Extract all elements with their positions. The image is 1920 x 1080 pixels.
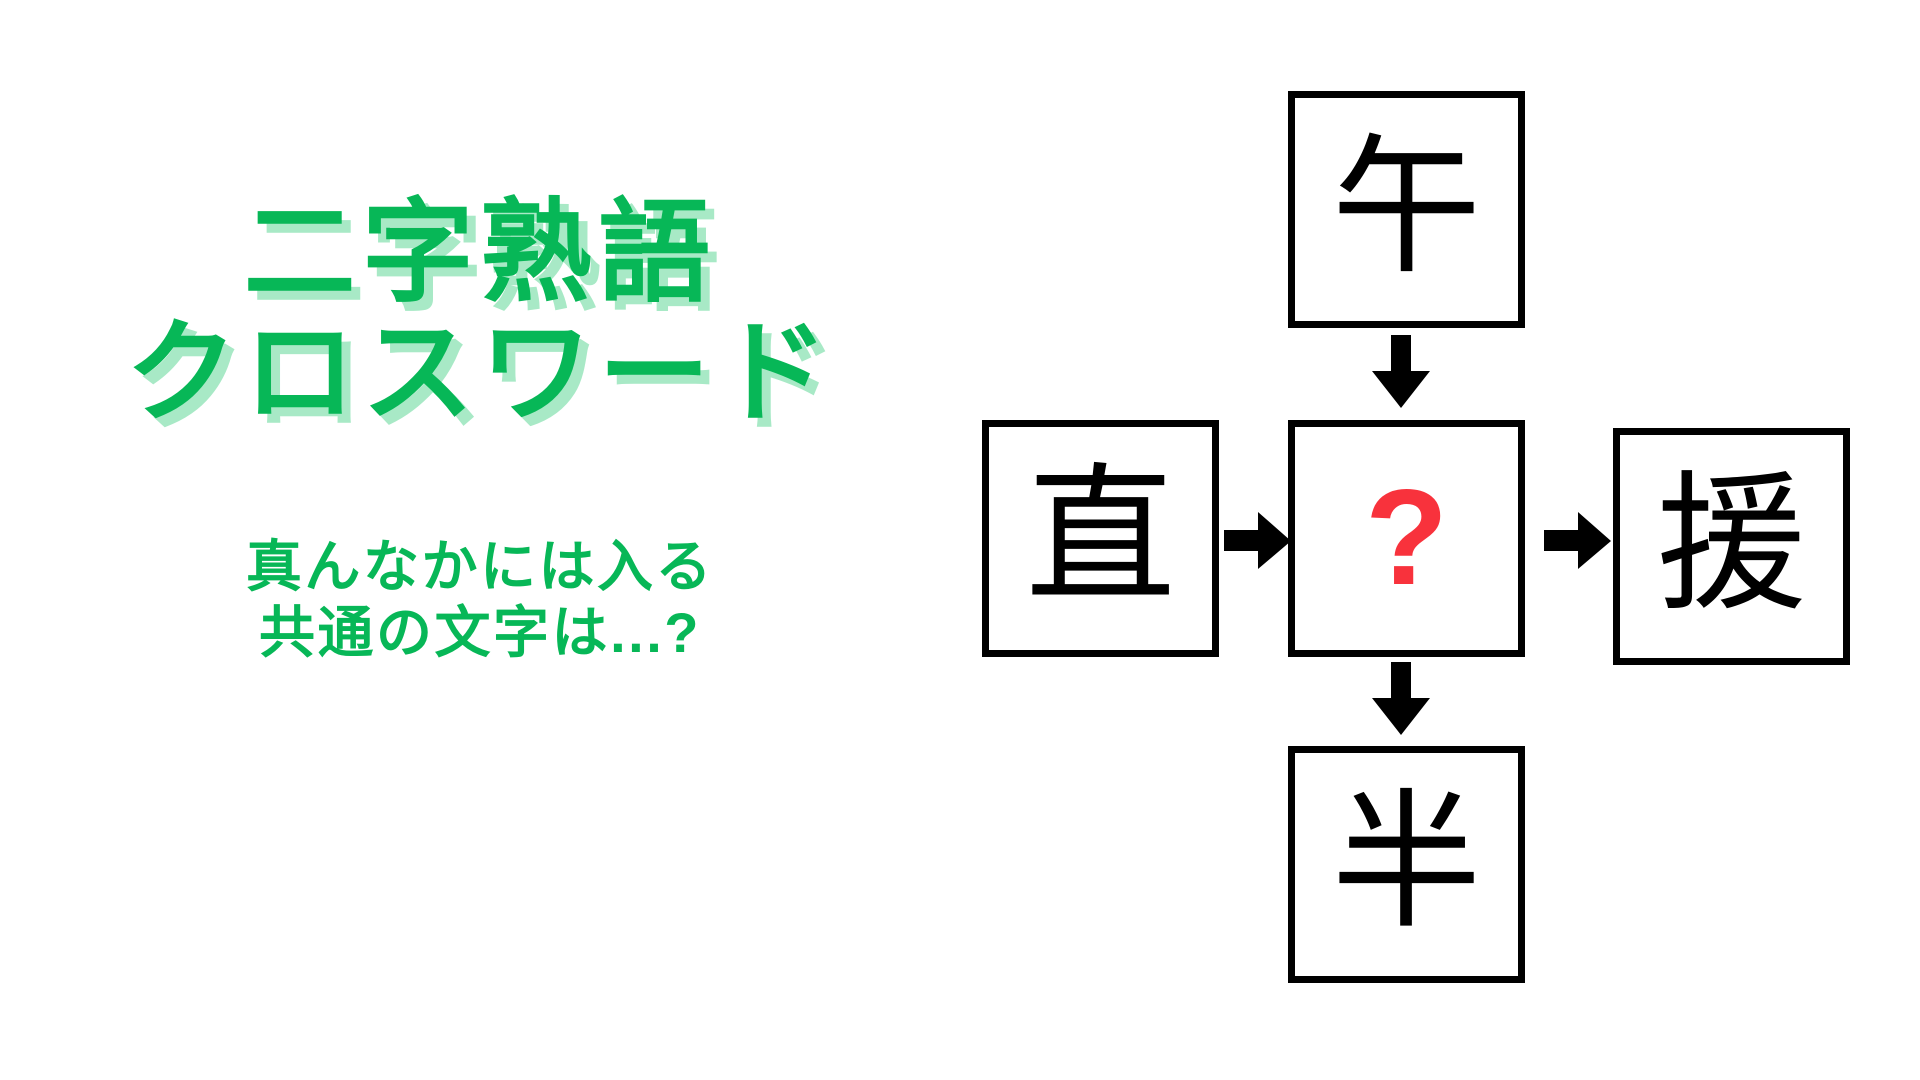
crossword-puzzle: 午 直 ? 援 — [980, 60, 1880, 1020]
page-title: 二字熟語 クロスワード — [0, 196, 960, 430]
arrow-down-icon — [1370, 335, 1432, 409]
answer-question-mark: ? — [1365, 469, 1448, 605]
puzzle-cell-top[interactable]: 午 — [1288, 91, 1525, 328]
title-line-1: 二字熟語 — [0, 196, 960, 310]
arrow-right-icon — [1224, 512, 1292, 570]
subtitle-line-1: 真んなかには入る — [0, 534, 960, 600]
subtitle-line-2: 共通の文字は...? — [0, 600, 960, 666]
puzzle-cell-left[interactable]: 直 — [982, 420, 1219, 657]
kanji-glyph-left: 直 — [1025, 462, 1175, 612]
kanji-glyph-top: 午 — [1331, 133, 1481, 283]
puzzle-cell-right[interactable]: 援 — [1613, 428, 1850, 665]
puzzle-cell-bottom[interactable]: 半 — [1288, 746, 1525, 983]
arrow-right-icon — [1544, 512, 1612, 570]
kanji-glyph-bottom: 半 — [1331, 788, 1481, 938]
puzzle-cell-center-answer[interactable]: ? — [1288, 420, 1525, 657]
title-line-2: クロスワード — [0, 316, 960, 430]
arrow-down-icon — [1370, 662, 1432, 736]
subtitle: 真んなかには入る 共通の文字は...? — [0, 534, 960, 665]
slide-canvas: 二字熟語 クロスワード 真んなかには入る 共通の文字は...? 午 直 ? — [0, 0, 1920, 1080]
kanji-glyph-right: 援 — [1656, 470, 1806, 620]
